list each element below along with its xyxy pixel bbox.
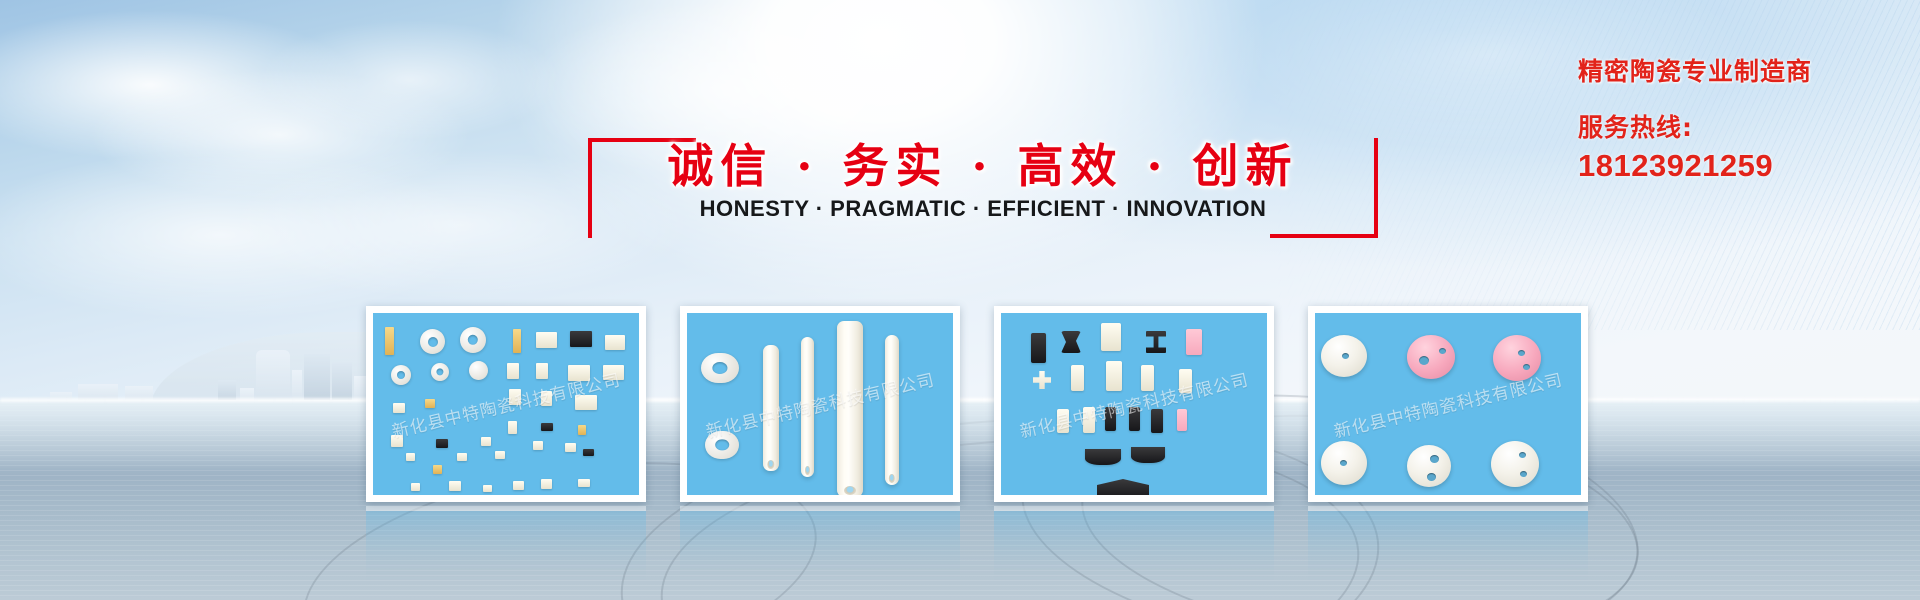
ceramic-part: [457, 453, 467, 461]
ceramic-part: [483, 485, 492, 492]
ceramic-part: [460, 327, 486, 353]
ceramic-part: [495, 451, 505, 459]
ceramic-part: [393, 403, 405, 413]
ceramic-part: [541, 423, 553, 431]
panel-reflection: [680, 506, 960, 582]
ceramic-part: [583, 449, 594, 456]
disc-hole: [1439, 348, 1446, 354]
ceramic-part: [406, 453, 415, 461]
ceramic-part: [1033, 371, 1051, 389]
hotline-number[interactable]: 18123921259: [1578, 148, 1918, 184]
ceramic-part: [565, 443, 576, 452]
cloud-shape: [0, 150, 480, 320]
ceramic-part: [570, 331, 592, 347]
ceramic-part: [420, 329, 445, 354]
ceramic-rod: [801, 337, 814, 477]
ceramic-part: [1179, 369, 1192, 393]
ceramic-ring: [701, 353, 739, 383]
ceramic-part: [1129, 407, 1140, 431]
product-gallery: ceramic-smd-components: [366, 306, 1588, 502]
disc-hole: [1523, 364, 1530, 370]
cloud-shape: [0, 10, 360, 160]
ceramic-part: [1177, 409, 1187, 431]
ceramic-part: [411, 483, 420, 491]
cloud-shape: [260, 20, 560, 140]
ceramic-part: [1061, 331, 1081, 353]
product-image-discs: ceramic-discs: [1315, 313, 1581, 495]
ceramic-part: [1057, 409, 1069, 433]
disc-hole: [1427, 473, 1436, 481]
ceramic-part: [536, 332, 557, 348]
ceramic-part: [603, 365, 624, 380]
product-panel[interactable]: ceramic-tubes-and-rings 新化县中特陶瓷科技有限公司: [680, 306, 960, 502]
ceramic-part: [568, 365, 590, 381]
product-panel[interactable]: ceramic-smd-components: [366, 306, 646, 502]
promo-banner: 诚信 · 务实 · 高效 · 创新 HONESTY · PRAGMATIC · …: [0, 0, 1920, 600]
disc-hole: [1518, 350, 1525, 356]
product-image-tubes: ceramic-tubes-and-rings 新化县中特陶瓷科技有限公司: [687, 313, 953, 495]
ceramic-disc: [1321, 335, 1367, 377]
ceramic-part: [425, 399, 435, 408]
disc-hole: [1340, 460, 1347, 466]
ceramic-part: [1151, 409, 1163, 433]
panel-watermark: 新化县中特陶瓷科技有限公司: [703, 366, 937, 443]
ceramic-part: [436, 439, 448, 448]
ceramic-part: [385, 327, 394, 355]
ceramic-ring: [705, 431, 739, 459]
ceramic-part: [391, 435, 403, 447]
ceramic-part: [605, 335, 625, 350]
ceramic-rod: [837, 321, 863, 495]
ceramic-disc: [1493, 335, 1541, 381]
ceramic-part: [431, 363, 449, 381]
ceramic-part: [1031, 333, 1046, 363]
disc-hole: [1430, 455, 1439, 463]
ceramic-rod: [885, 335, 899, 485]
ceramic-part: [508, 421, 517, 434]
ceramic-part: [1146, 331, 1166, 353]
ceramic-part: [1101, 323, 1121, 351]
ceramic-part: [1083, 407, 1095, 433]
ceramic-part: [433, 465, 442, 474]
ceramic-part: [509, 389, 521, 405]
slogan-chinese: 诚信 · 务实 · 高效 · 创新: [588, 130, 1378, 196]
ceramic-part: [578, 425, 586, 435]
ceramic-part: [391, 365, 411, 385]
panel-reflections: [366, 506, 1588, 582]
ceramic-disc: [1321, 441, 1367, 485]
ceramic-part: [1106, 361, 1122, 391]
product-image-blocks: ceramic-blocks-and-profiles: [1001, 313, 1267, 495]
contact-block: 精密陶瓷专业制造商 服务热线: 18123921259: [1578, 52, 1918, 184]
panel-reflection: [994, 506, 1274, 582]
panel-reflection: [1308, 506, 1588, 582]
ceramic-disc: [1491, 441, 1539, 487]
ceramic-part: [541, 391, 552, 406]
ceramic-part: [1071, 365, 1084, 391]
product-panel[interactable]: ceramic-discs: [1308, 306, 1588, 502]
disc-hole: [1419, 356, 1429, 365]
ceramic-part: [578, 479, 590, 487]
panel-reflection: [366, 506, 646, 582]
ceramic-part: [1141, 365, 1154, 391]
hotline-label: 服务热线:: [1578, 108, 1918, 144]
ceramic-arc: [1131, 447, 1165, 463]
ceramic-part: [507, 363, 519, 379]
ceramic-arc: [1097, 479, 1149, 495]
ceramic-arc: [1085, 449, 1121, 465]
ceramic-disc: [1407, 445, 1451, 487]
slogan-english: HONESTY · PRAGMATIC · EFFICIENT · INNOVA…: [588, 196, 1378, 222]
ceramic-disc: [1407, 335, 1455, 379]
ceramic-part: [1186, 329, 1202, 355]
ceramic-part: [449, 481, 461, 491]
ceramic-part: [469, 361, 488, 380]
disc-hole: [1519, 452, 1526, 458]
ceramic-rod: [763, 345, 779, 471]
ceramic-part: [575, 395, 597, 410]
ceramic-part: [513, 329, 521, 353]
ceramic-part: [481, 437, 491, 446]
slogan-block: 诚信 · 务实 · 高效 · 创新 HONESTY · PRAGMATIC · …: [588, 130, 1378, 250]
ceramic-part: [541, 479, 552, 489]
ceramic-part: [1105, 407, 1116, 431]
ceramic-part: [536, 363, 548, 379]
disc-hole: [1520, 471, 1527, 477]
product-panel[interactable]: ceramic-blocks-and-profiles: [994, 306, 1274, 502]
ceramic-part: [533, 441, 543, 450]
disc-hole: [1342, 353, 1349, 359]
company-tagline: 精密陶瓷专业制造商: [1578, 52, 1918, 88]
product-image-smd: ceramic-smd-components: [373, 313, 639, 495]
ceramic-part: [513, 481, 524, 490]
cloud-shape: [90, 70, 470, 200]
